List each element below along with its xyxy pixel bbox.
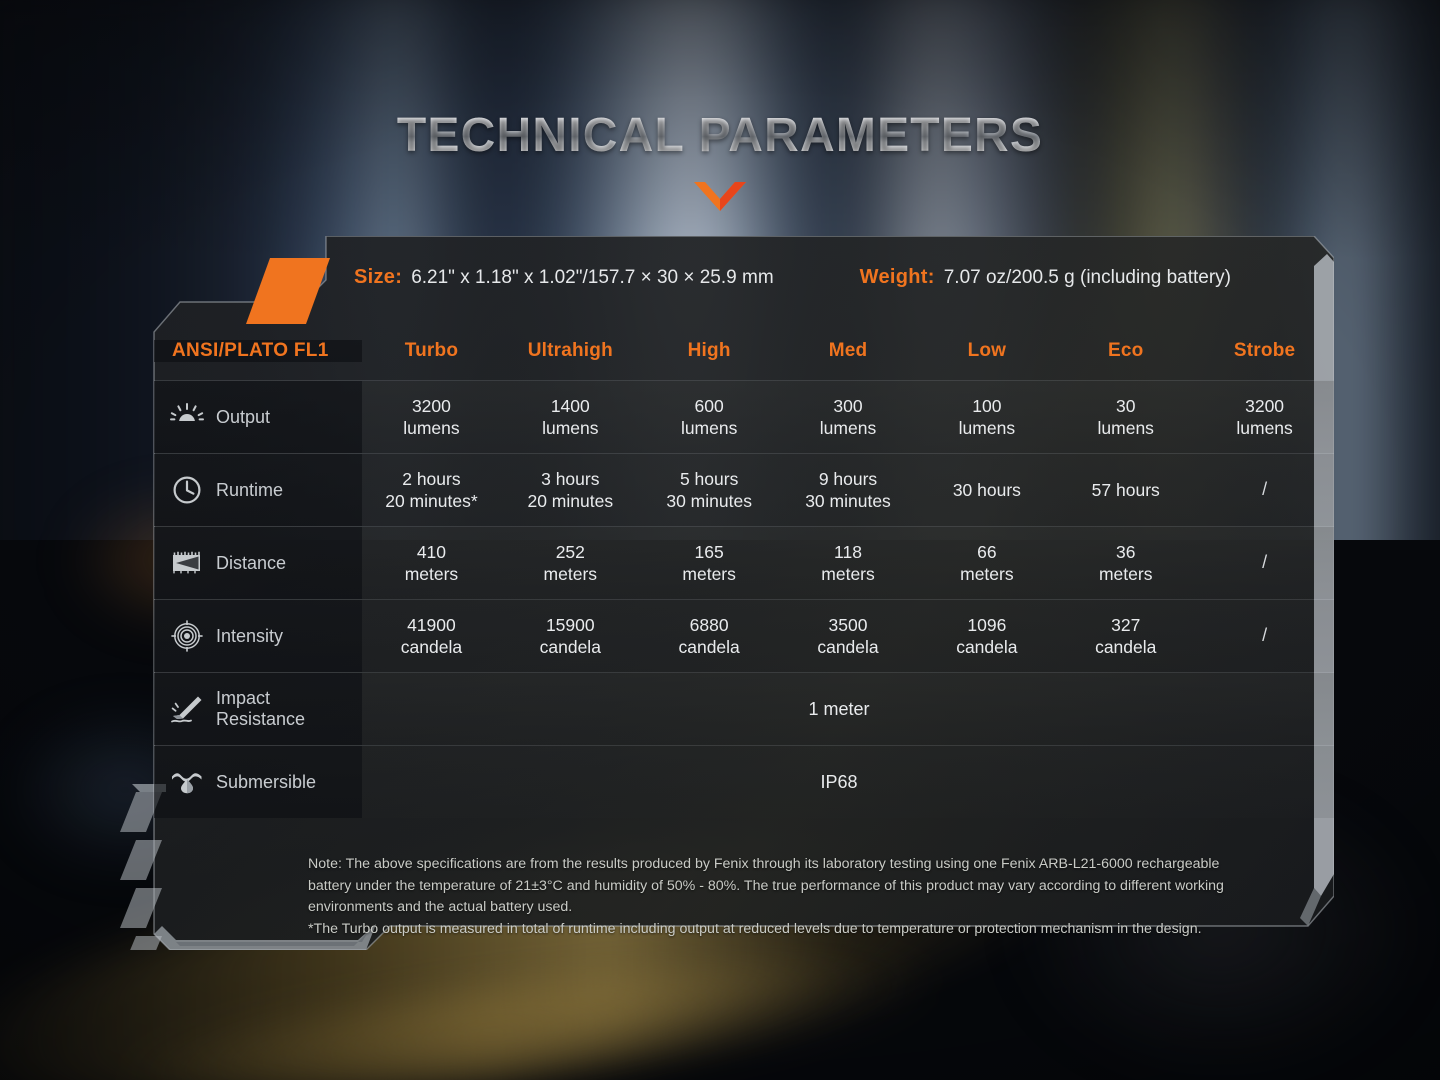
cell-runtime-ultrahigh: 3 hours20 minutes	[501, 454, 640, 526]
cell-runtime-eco: 57 hours	[1056, 454, 1195, 526]
cell-runtime-low: 30 hours	[917, 454, 1056, 526]
chevron-down-icon	[0, 180, 1440, 214]
cell-output-med: 300lumens	[779, 381, 918, 453]
row-label-text: Output	[216, 407, 270, 428]
cell-output-low: 100lumens	[917, 381, 1056, 453]
footnote-line-2: battery under the temperature of 21±3°C …	[308, 876, 1398, 898]
cell-distance-high: 165meters	[640, 527, 779, 599]
row-data-area: 410meters252meters165meters118meters66me…	[362, 527, 1334, 599]
span-value: 1 meter	[808, 699, 869, 720]
cell-output-eco: 30lumens	[1056, 381, 1195, 453]
cell-distance-turbo: 410meters	[362, 527, 501, 599]
cell-impact-resistance-all: 1 meter	[362, 673, 1334, 745]
span-value: IP68	[820, 772, 857, 793]
footnote-line-4: *The Turbo output is measured in total o…	[308, 919, 1398, 941]
cell-intensity-med: 3500candela	[779, 600, 918, 672]
row-label-cell: Distance	[154, 527, 362, 599]
cell-output-turbo: 3200lumens	[362, 381, 501, 453]
column-header-ultrahigh: Ultrahigh	[501, 333, 640, 369]
table-row: SubmersibleIP68	[154, 745, 1334, 818]
weight-label: Weight:	[860, 266, 935, 289]
column-header-strobe: Strobe	[1195, 333, 1334, 369]
page-title: TECHNICAL PARAMETERS	[0, 108, 1440, 163]
cell-distance-low: 66meters	[917, 527, 1056, 599]
row-label-cell: Output	[154, 381, 362, 453]
size-value: 6.21" x 1.18" x 1.02"/157.7 × 30 × 25.9 …	[411, 267, 773, 289]
cell-intensity-turbo: 41900candela	[362, 600, 501, 672]
column-header-eco: Eco	[1056, 333, 1195, 369]
cell-intensity-high: 6880candela	[640, 600, 779, 672]
row-data-area: 2 hours20 minutes*3 hours20 minutes5 hou…	[362, 454, 1334, 526]
clock-icon	[168, 475, 206, 505]
corner-header-label: ANSI/PLATO FL1	[168, 340, 329, 362]
table-row: Runtime2 hours20 minutes*3 hours20 minut…	[154, 453, 1334, 526]
table-row: ImpactResistance1 meter	[154, 672, 1334, 745]
cell-output-high: 600lumens	[640, 381, 779, 453]
column-header-turbo: Turbo	[362, 333, 501, 369]
size-label: Size:	[354, 266, 402, 289]
table-header-row: ANSI/PLATO FL1 TurboUltrahighHighMedLowE…	[154, 322, 1334, 380]
cell-intensity-strobe: /	[1195, 600, 1334, 672]
spec-panel: Size: 6.21" x 1.18" x 1.02"/157.7 × 30 ×…	[118, 236, 1334, 950]
table-row: Intensity41900candela15900candela6880can…	[154, 599, 1334, 672]
cell-output-strobe: 3200lumens	[1195, 381, 1334, 453]
row-label-cell: Runtime	[154, 454, 362, 526]
cell-distance-med: 118meters	[779, 527, 918, 599]
cell-runtime-turbo: 2 hours20 minutes*	[362, 454, 501, 526]
cell-runtime-high: 5 hours30 minutes	[640, 454, 779, 526]
sunburst-icon	[168, 403, 206, 431]
row-label-text: Intensity	[216, 626, 283, 647]
column-header-med: Med	[779, 333, 918, 369]
cell-distance-eco: 36meters	[1056, 527, 1195, 599]
ruler-icon	[168, 550, 206, 576]
row-label-text: Submersible	[216, 772, 316, 793]
footnote-line-3: environments and the actual battery used…	[308, 897, 1398, 919]
column-header-low: Low	[917, 333, 1056, 369]
cell-intensity-eco: 327candela	[1056, 600, 1195, 672]
row-data-area: IP68	[362, 746, 1334, 818]
footnote-line-1: Note: The above specifications are from …	[308, 854, 1398, 876]
cell-submersible-all: IP68	[362, 746, 1334, 818]
cell-runtime-med: 9 hours30 minutes	[779, 454, 918, 526]
table-body: Output3200lumens1400lumens600lumens300lu…	[154, 380, 1334, 818]
cell-intensity-ultrahigh: 15900candela	[501, 600, 640, 672]
water-drop-icon	[168, 770, 206, 794]
row-data-area: 41900candela15900candela6880candela3500c…	[362, 600, 1334, 672]
row-label-cell: Intensity	[154, 600, 362, 672]
spec-table: ANSI/PLATO FL1 TurboUltrahighHighMedLowE…	[154, 322, 1334, 844]
row-data-area: 1 meter	[362, 673, 1334, 745]
column-headers: TurboUltrahighHighMedLowEcoStrobe	[362, 333, 1334, 369]
weight-value: 7.07 oz/200.5 g (including battery)	[944, 267, 1231, 289]
row-label-cell: Submersible	[154, 746, 362, 818]
row-label-text: Runtime	[216, 480, 283, 501]
size-weight-strip: Size: 6.21" x 1.18" x 1.02"/157.7 × 30 ×…	[154, 236, 1334, 322]
table-row: Distance410meters252meters165meters118me…	[154, 526, 1334, 599]
row-label-cell: ImpactResistance	[154, 673, 362, 745]
cell-runtime-strobe: /	[1195, 454, 1334, 526]
corner-header-cell: ANSI/PLATO FL1	[154, 340, 362, 362]
row-label-text: ImpactResistance	[216, 688, 305, 730]
row-data-area: 3200lumens1400lumens600lumens300lumens10…	[362, 381, 1334, 453]
row-label-text: Distance	[216, 553, 286, 574]
cell-distance-ultrahigh: 252meters	[501, 527, 640, 599]
cell-intensity-low: 1096candela	[917, 600, 1056, 672]
target-icon	[168, 620, 206, 652]
footnote: Note: The above specifications are from …	[308, 854, 1398, 940]
table-row: Output3200lumens1400lumens600lumens300lu…	[154, 380, 1334, 453]
column-header-high: High	[640, 333, 779, 369]
cell-output-ultrahigh: 1400lumens	[501, 381, 640, 453]
impact-hammer-icon	[168, 694, 206, 724]
cell-distance-strobe: /	[1195, 527, 1334, 599]
